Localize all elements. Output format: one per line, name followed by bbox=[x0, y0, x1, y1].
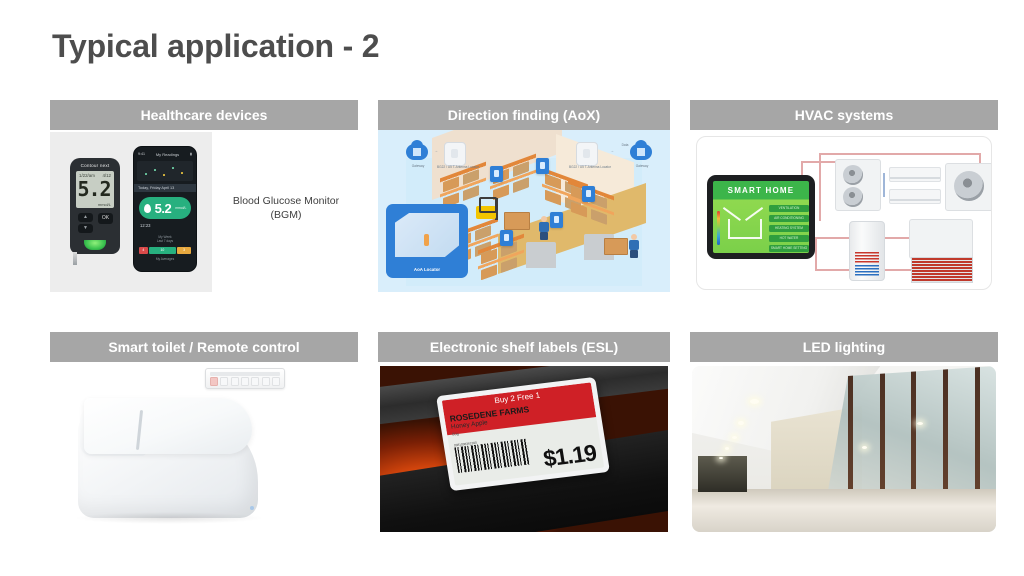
aox-node-label: Gateway bbox=[619, 164, 665, 168]
asset-tag-icon bbox=[490, 166, 503, 182]
toilet-lid bbox=[84, 398, 252, 454]
aoa-locator-inset: AoA Locator bbox=[386, 204, 468, 278]
house-outline-icon bbox=[725, 207, 761, 237]
panel-body-healthcare: Contour next 1/22/am 4/12 5.2 mmol/L ▲ ▼… bbox=[50, 130, 358, 298]
remote-display bbox=[210, 372, 280, 376]
split-ac-indoor-unit bbox=[889, 189, 941, 204]
meter-button-up[interactable]: ▲ bbox=[78, 213, 93, 222]
phone-reading-time: 12:23 bbox=[140, 223, 150, 228]
range-bar-target: 10 bbox=[149, 247, 177, 254]
phone-reading-pill: 5.2 mmol/L bbox=[139, 197, 191, 219]
meter-brand-label: Contour next bbox=[70, 163, 120, 168]
panel-body-smart-toilet bbox=[50, 362, 358, 538]
bgm-caption-line2: (BGM) bbox=[216, 208, 356, 222]
smart-toilet-device bbox=[78, 394, 268, 518]
corridor-far-end bbox=[698, 456, 747, 493]
worker-legs bbox=[630, 250, 638, 258]
radiator-unit bbox=[911, 257, 973, 283]
remote-key-bidet[interactable] bbox=[231, 377, 239, 386]
fan-icon bbox=[843, 165, 863, 185]
meter-lcd-unit: mmol/L bbox=[98, 202, 111, 207]
phone-trend-chart bbox=[137, 161, 193, 181]
range-bar-high: 3 bbox=[177, 247, 191, 254]
hvac-diagram: SMART HOME VENTILATION AIR CONDITIONING … bbox=[696, 136, 992, 290]
range-bar-low: 4 bbox=[139, 247, 148, 254]
smart-home-title: SMART HOME bbox=[713, 186, 809, 195]
phone-week-summary: My Week Last 7 days bbox=[134, 235, 196, 244]
esl-price: $1.19 bbox=[542, 439, 598, 472]
panel-header-led: LED lighting bbox=[690, 332, 998, 362]
panel-header-healthcare: Healthcare devices bbox=[50, 100, 358, 130]
chevron-up-icon: ▲ bbox=[78, 213, 93, 222]
pallet-crate bbox=[504, 212, 530, 230]
panel-header-esl: Electronic shelf labels (ESL) bbox=[378, 332, 670, 362]
blood-drop-icon bbox=[143, 203, 150, 212]
warehouse-worker bbox=[538, 216, 550, 240]
meter-lcd-screen: 1/22/am 4/12 5.2 mmol/L bbox=[76, 171, 114, 208]
meter-lcd-value: 5.2 bbox=[76, 179, 112, 199]
smart-home-tablet[interactable]: SMART HOME VENTILATION AIR CONDITIONING … bbox=[707, 175, 815, 259]
panel-header-smart-toilet: Smart toilet / Remote control bbox=[50, 332, 358, 362]
forklift-vehicle bbox=[474, 196, 504, 226]
asset-tag-icon bbox=[550, 212, 563, 228]
panel-body-hvac: SMART HOME VENTILATION AIR CONDITIONING … bbox=[690, 130, 998, 298]
panel-body-led bbox=[690, 362, 998, 538]
panel-direction-finding: Direction finding (AoX) bbox=[378, 100, 670, 300]
asset-tag-icon bbox=[500, 230, 513, 246]
remote-key-dry[interactable] bbox=[241, 377, 249, 386]
hvac-button-smart-home-setting[interactable]: SMART HOME SETTING bbox=[769, 245, 809, 252]
ceiling-light-icon bbox=[862, 446, 867, 449]
cooling-coil bbox=[855, 265, 879, 276]
panel-header-hvac: HVAC systems bbox=[690, 100, 998, 130]
led-lighting-photo bbox=[692, 366, 996, 532]
aox-warehouse-illustration: Gateway → Data BG22 / U5 T-Antenna Locat… bbox=[378, 130, 670, 292]
electronic-shelf-label: Buy 2 Free 1 ROSEDENE FARMS Honey Apple … bbox=[436, 377, 610, 491]
gateway-cloud-icon bbox=[630, 144, 652, 160]
panel-healthcare-devices: Healthcare devices Contour next 1/22/am … bbox=[50, 100, 358, 300]
phone-status-bar: 9:41 My Readings ▮ bbox=[138, 151, 192, 157]
page-title: Typical application - 2 bbox=[52, 28, 379, 65]
panel-smart-toilet: Smart toilet / Remote control bbox=[50, 332, 358, 540]
asset-tag-icon bbox=[536, 158, 549, 174]
phone-range-bars: 4 10 3 bbox=[139, 247, 191, 254]
temperature-scale-icon bbox=[717, 211, 720, 245]
hvac-button-hot-water[interactable]: HOT WATER bbox=[769, 235, 809, 242]
pallet-crate bbox=[604, 238, 628, 255]
remote-key-menu[interactable] bbox=[272, 377, 280, 386]
glucose-meter-device: Contour next 1/22/am 4/12 5.2 mmol/L ▲ ▼… bbox=[70, 158, 120, 254]
phone-battery-icon: ▮ bbox=[190, 152, 192, 156]
hvac-pipe bbox=[819, 153, 981, 155]
meter-button-down[interactable]: ▼ bbox=[78, 224, 93, 233]
heat-pump-outdoor-unit bbox=[835, 159, 881, 211]
remote-key-flush[interactable] bbox=[262, 377, 270, 386]
panel-grid: Healthcare devices Contour next 1/22/am … bbox=[50, 100, 998, 540]
ceiling-light-icon bbox=[725, 447, 729, 450]
data-arrow-icon: → bbox=[434, 148, 438, 153]
phone-week-subtitle: Last 7 days bbox=[134, 239, 196, 243]
panel-body-aox: Gateway → Data BG22 / U5 T-Antenna Locat… bbox=[378, 130, 670, 298]
phone-reading-unit: mmol/L bbox=[175, 206, 186, 210]
ceiling-light-icon bbox=[732, 436, 737, 439]
phone-reading-value: 5.2 bbox=[155, 201, 172, 216]
slide-root: Typical application - 2 Healthcare devic… bbox=[0, 0, 1024, 576]
bgm-image: Contour next 1/22/am 4/12 5.2 mmol/L ▲ ▼… bbox=[50, 132, 212, 292]
remote-key-seat[interactable] bbox=[251, 377, 259, 386]
antenna-locator-icon bbox=[576, 142, 598, 166]
phone-status-time: 9:41 bbox=[138, 152, 145, 156]
esl-weight: 80g bbox=[452, 431, 459, 437]
chevron-down-icon: ▼ bbox=[78, 224, 93, 233]
panel-header-aox: Direction finding (AoX) bbox=[378, 100, 670, 130]
data-arrow-icon: → bbox=[610, 148, 614, 153]
esl-eink-screen: Buy 2 Free 1 ROSEDENE FARMS Honey Apple … bbox=[442, 382, 604, 485]
hvac-pipe bbox=[819, 153, 821, 221]
test-strip-icon bbox=[73, 252, 77, 265]
phone-day-label: Today, Friday April 13 bbox=[134, 184, 196, 192]
fan-icon bbox=[954, 171, 984, 201]
smart-toilet-image bbox=[50, 362, 358, 538]
house-body bbox=[728, 219, 762, 239]
tablet-screen: SMART HOME VENTILATION AIR CONDITIONING … bbox=[713, 181, 809, 253]
wall-fan-unit bbox=[945, 163, 992, 211]
phone-app-title: My Readings bbox=[145, 152, 190, 157]
panel-esl: Electronic shelf labels (ESL) Buy 2 Free… bbox=[378, 332, 670, 540]
toilet-indicator-dot bbox=[250, 506, 254, 510]
ceiling-light-icon bbox=[738, 421, 744, 425]
bgm-caption: Blood Glucose Monitor (BGM) bbox=[216, 194, 356, 222]
meter-test-port-light bbox=[84, 240, 106, 250]
aox-node-label: BG22 / U5 T-Antenna Locator bbox=[435, 165, 481, 169]
worker-legs bbox=[540, 232, 548, 240]
hvac-button-heating-system[interactable]: HEATING SYSTEM bbox=[769, 225, 809, 232]
warehouse-worker bbox=[628, 234, 640, 258]
worker-torso bbox=[539, 222, 549, 232]
aox-node-label: BG22 / U5 T-Antenna Locator bbox=[567, 165, 613, 169]
panel-led-lighting: LED lighting bbox=[690, 332, 998, 540]
refrigerant-pipe bbox=[883, 173, 885, 197]
air-handler-unit bbox=[909, 219, 973, 259]
worker-torso bbox=[629, 240, 639, 250]
inset-person-icon bbox=[424, 234, 429, 246]
antenna-locator-icon bbox=[444, 142, 466, 166]
hvac-button-air-conditioning[interactable]: AIR CONDITIONING bbox=[769, 215, 809, 222]
forklift-cab bbox=[479, 197, 497, 213]
remote-key-stop[interactable] bbox=[210, 377, 218, 386]
meter-button-ok[interactable]: OK bbox=[98, 213, 113, 224]
heating-coil bbox=[855, 252, 879, 264]
phone-averages-label: My Averages bbox=[134, 257, 196, 261]
aoa-locator-label: AoA Locator bbox=[386, 267, 468, 272]
remote-keypad[interactable] bbox=[210, 378, 280, 386]
loading-dock-door-1 bbox=[526, 242, 556, 268]
toilet-shadow bbox=[74, 512, 264, 524]
polished-floor bbox=[692, 489, 996, 532]
panel-hvac-systems: HVAC systems SMART HOME bbox=[690, 100, 998, 300]
hvac-pipe bbox=[815, 237, 817, 271]
bgm-caption-line1: Blood Glucose Monitor bbox=[216, 194, 356, 208]
asset-tag-icon bbox=[582, 186, 595, 202]
panel-body-esl: Buy 2 Free 1 ROSEDENE FARMS Honey Apple … bbox=[378, 362, 670, 538]
fan-icon bbox=[843, 187, 863, 207]
toilet-remote-control[interactable] bbox=[205, 368, 285, 389]
gateway-cloud-icon bbox=[406, 144, 428, 160]
esl-photo: Buy 2 Free 1 ROSEDENE FARMS Honey Apple … bbox=[380, 366, 668, 532]
split-ac-indoor-unit bbox=[889, 167, 941, 182]
smartphone-app: 9:41 My Readings ▮ Today, Friday April 1… bbox=[133, 146, 197, 272]
hvac-button-ventilation[interactable]: VENTILATION bbox=[769, 205, 809, 212]
remote-key-wash[interactable] bbox=[220, 377, 228, 386]
hot-water-tank bbox=[849, 221, 885, 281]
